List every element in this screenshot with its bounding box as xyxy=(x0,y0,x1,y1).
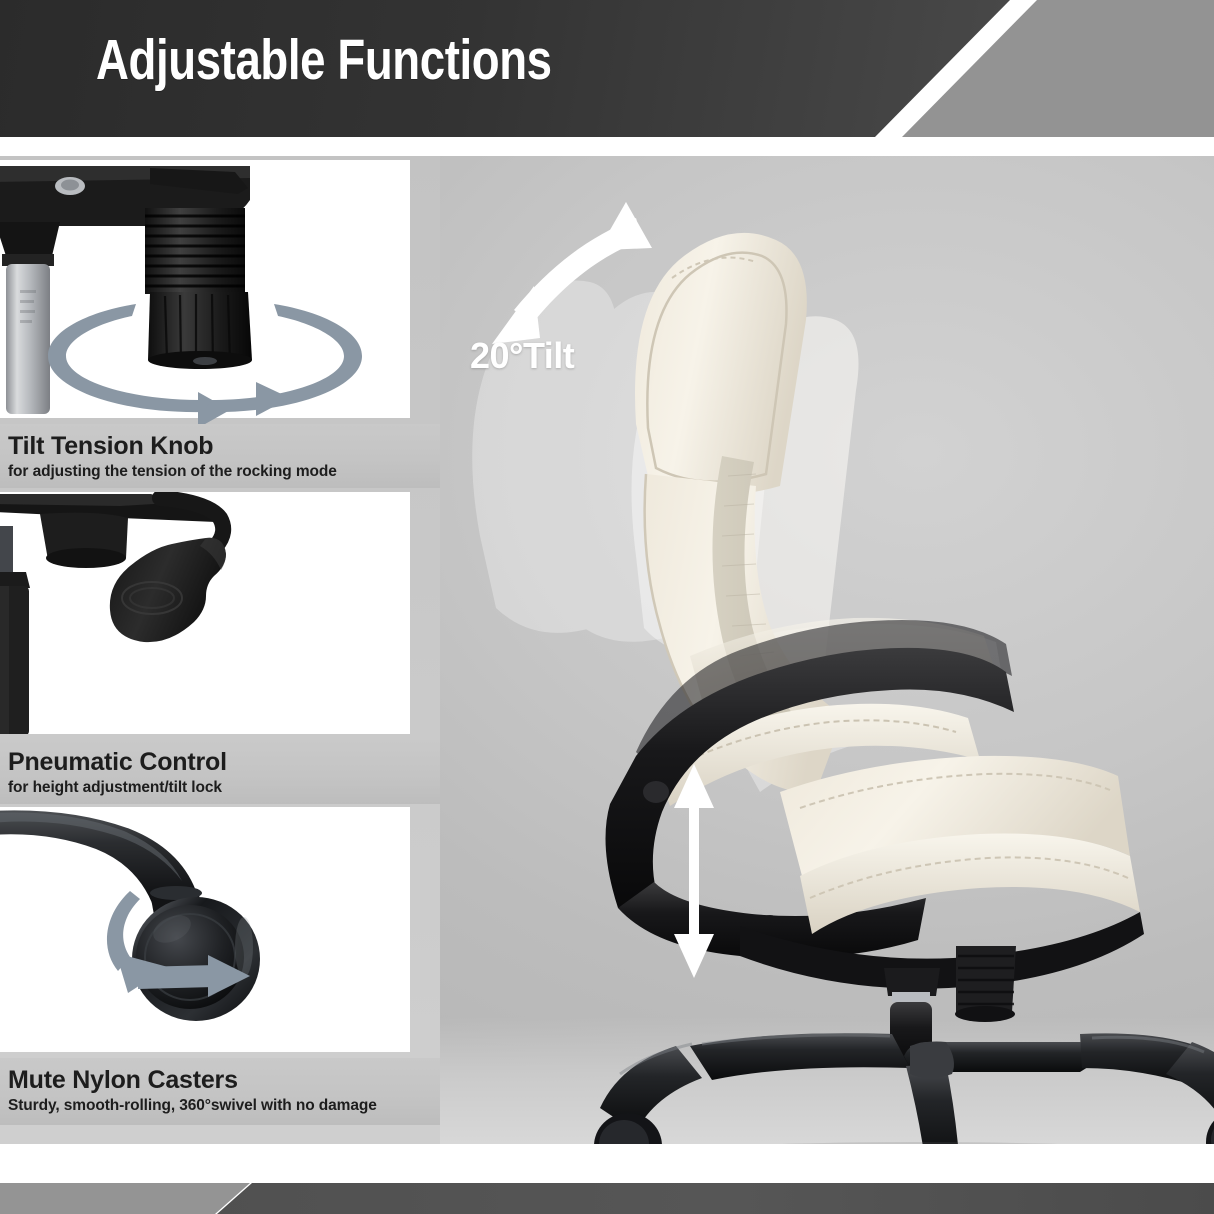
feature-photo-tilt-tension-knob xyxy=(0,160,410,418)
caption-title: Mute Nylon Casters xyxy=(8,1067,440,1094)
page-title: Adjustable Functions xyxy=(96,27,552,93)
tilt-tension-knob-illustration xyxy=(0,160,410,418)
caption-tilt-tension-knob: Tilt Tension Knob for adjusting the tens… xyxy=(0,424,440,488)
caption-title: Pneumatic Control xyxy=(8,749,440,776)
caption-title: Tilt Tension Knob xyxy=(8,433,440,460)
caption-mute-nylon-casters: Mute Nylon Casters Sturdy, smooth-rollin… xyxy=(0,1058,440,1125)
feature-photo-mute-nylon-casters xyxy=(0,807,410,1052)
lever-handle-illustration xyxy=(0,492,410,734)
caption-subtitle: for height adjustment/tilt lock xyxy=(8,778,440,797)
feature-photo-pneumatic-control xyxy=(0,492,410,734)
tilt-angle-label: 20°Tilt xyxy=(470,335,574,377)
caption-subtitle: for adjusting the tension of the rocking… xyxy=(8,462,440,481)
content-stage: + − Tilt Tension Knob for adjusting the … xyxy=(0,137,1214,1183)
footer-banner xyxy=(0,1183,1214,1214)
infographic-page: Adjustable Functions xyxy=(0,0,1214,1214)
caster-wheel-illustration xyxy=(0,807,410,1052)
caption-pneumatic-control: Pneumatic Control for height adjustment/… xyxy=(0,740,440,804)
caption-subtitle: Sturdy, smooth-rolling, 360°swivel with … xyxy=(8,1096,440,1115)
office-chair-illustration xyxy=(440,156,1214,1144)
header-banner: Adjustable Functions xyxy=(0,0,1214,137)
